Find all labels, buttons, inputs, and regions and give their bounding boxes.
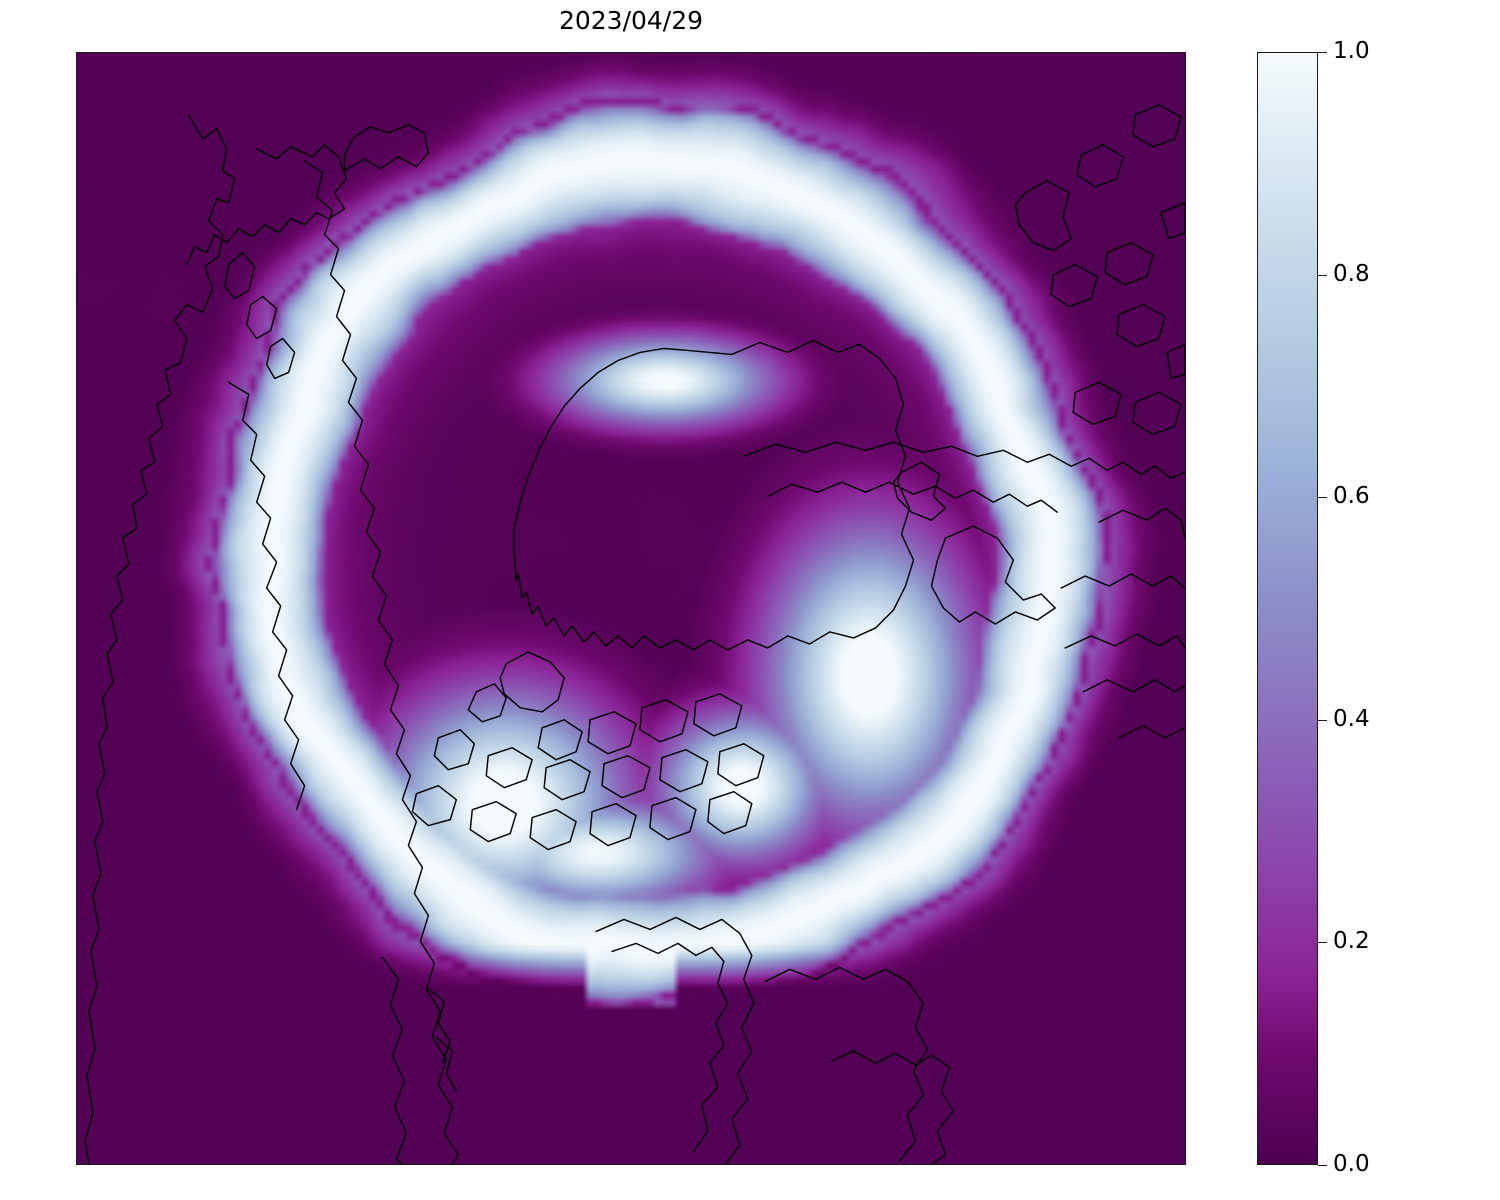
colorbar-tick-mark bbox=[1318, 720, 1327, 721]
figure-canvas: 2023/04/29 bbox=[0, 0, 1500, 1200]
page-title: 2023/04/29 bbox=[76, 4, 1186, 38]
heatmap-raster bbox=[77, 53, 1185, 1164]
colorbar-tick-mark bbox=[1318, 1165, 1327, 1166]
colorbar-gradient bbox=[1258, 53, 1317, 1164]
colorbar-tick-mark bbox=[1318, 942, 1327, 943]
colorbar-tick-label: 0.0 bbox=[1333, 1153, 1370, 1176]
colorbar-tick-label: 0.8 bbox=[1333, 263, 1370, 286]
colorbar-tick-label: 0.4 bbox=[1333, 708, 1370, 731]
colorbar-tick-label: 1.0 bbox=[1333, 40, 1370, 63]
colorbar-tick-label: 0.2 bbox=[1333, 930, 1370, 953]
colorbar-tick-label: 0.6 bbox=[1333, 485, 1370, 508]
arctic-sea-ice-map[interactable] bbox=[76, 52, 1186, 1165]
colorbar-tick-mark bbox=[1318, 52, 1327, 53]
colorbar[interactable] bbox=[1257, 52, 1318, 1165]
colorbar-tick-mark bbox=[1318, 497, 1327, 498]
colorbar-tick-mark bbox=[1318, 275, 1327, 276]
